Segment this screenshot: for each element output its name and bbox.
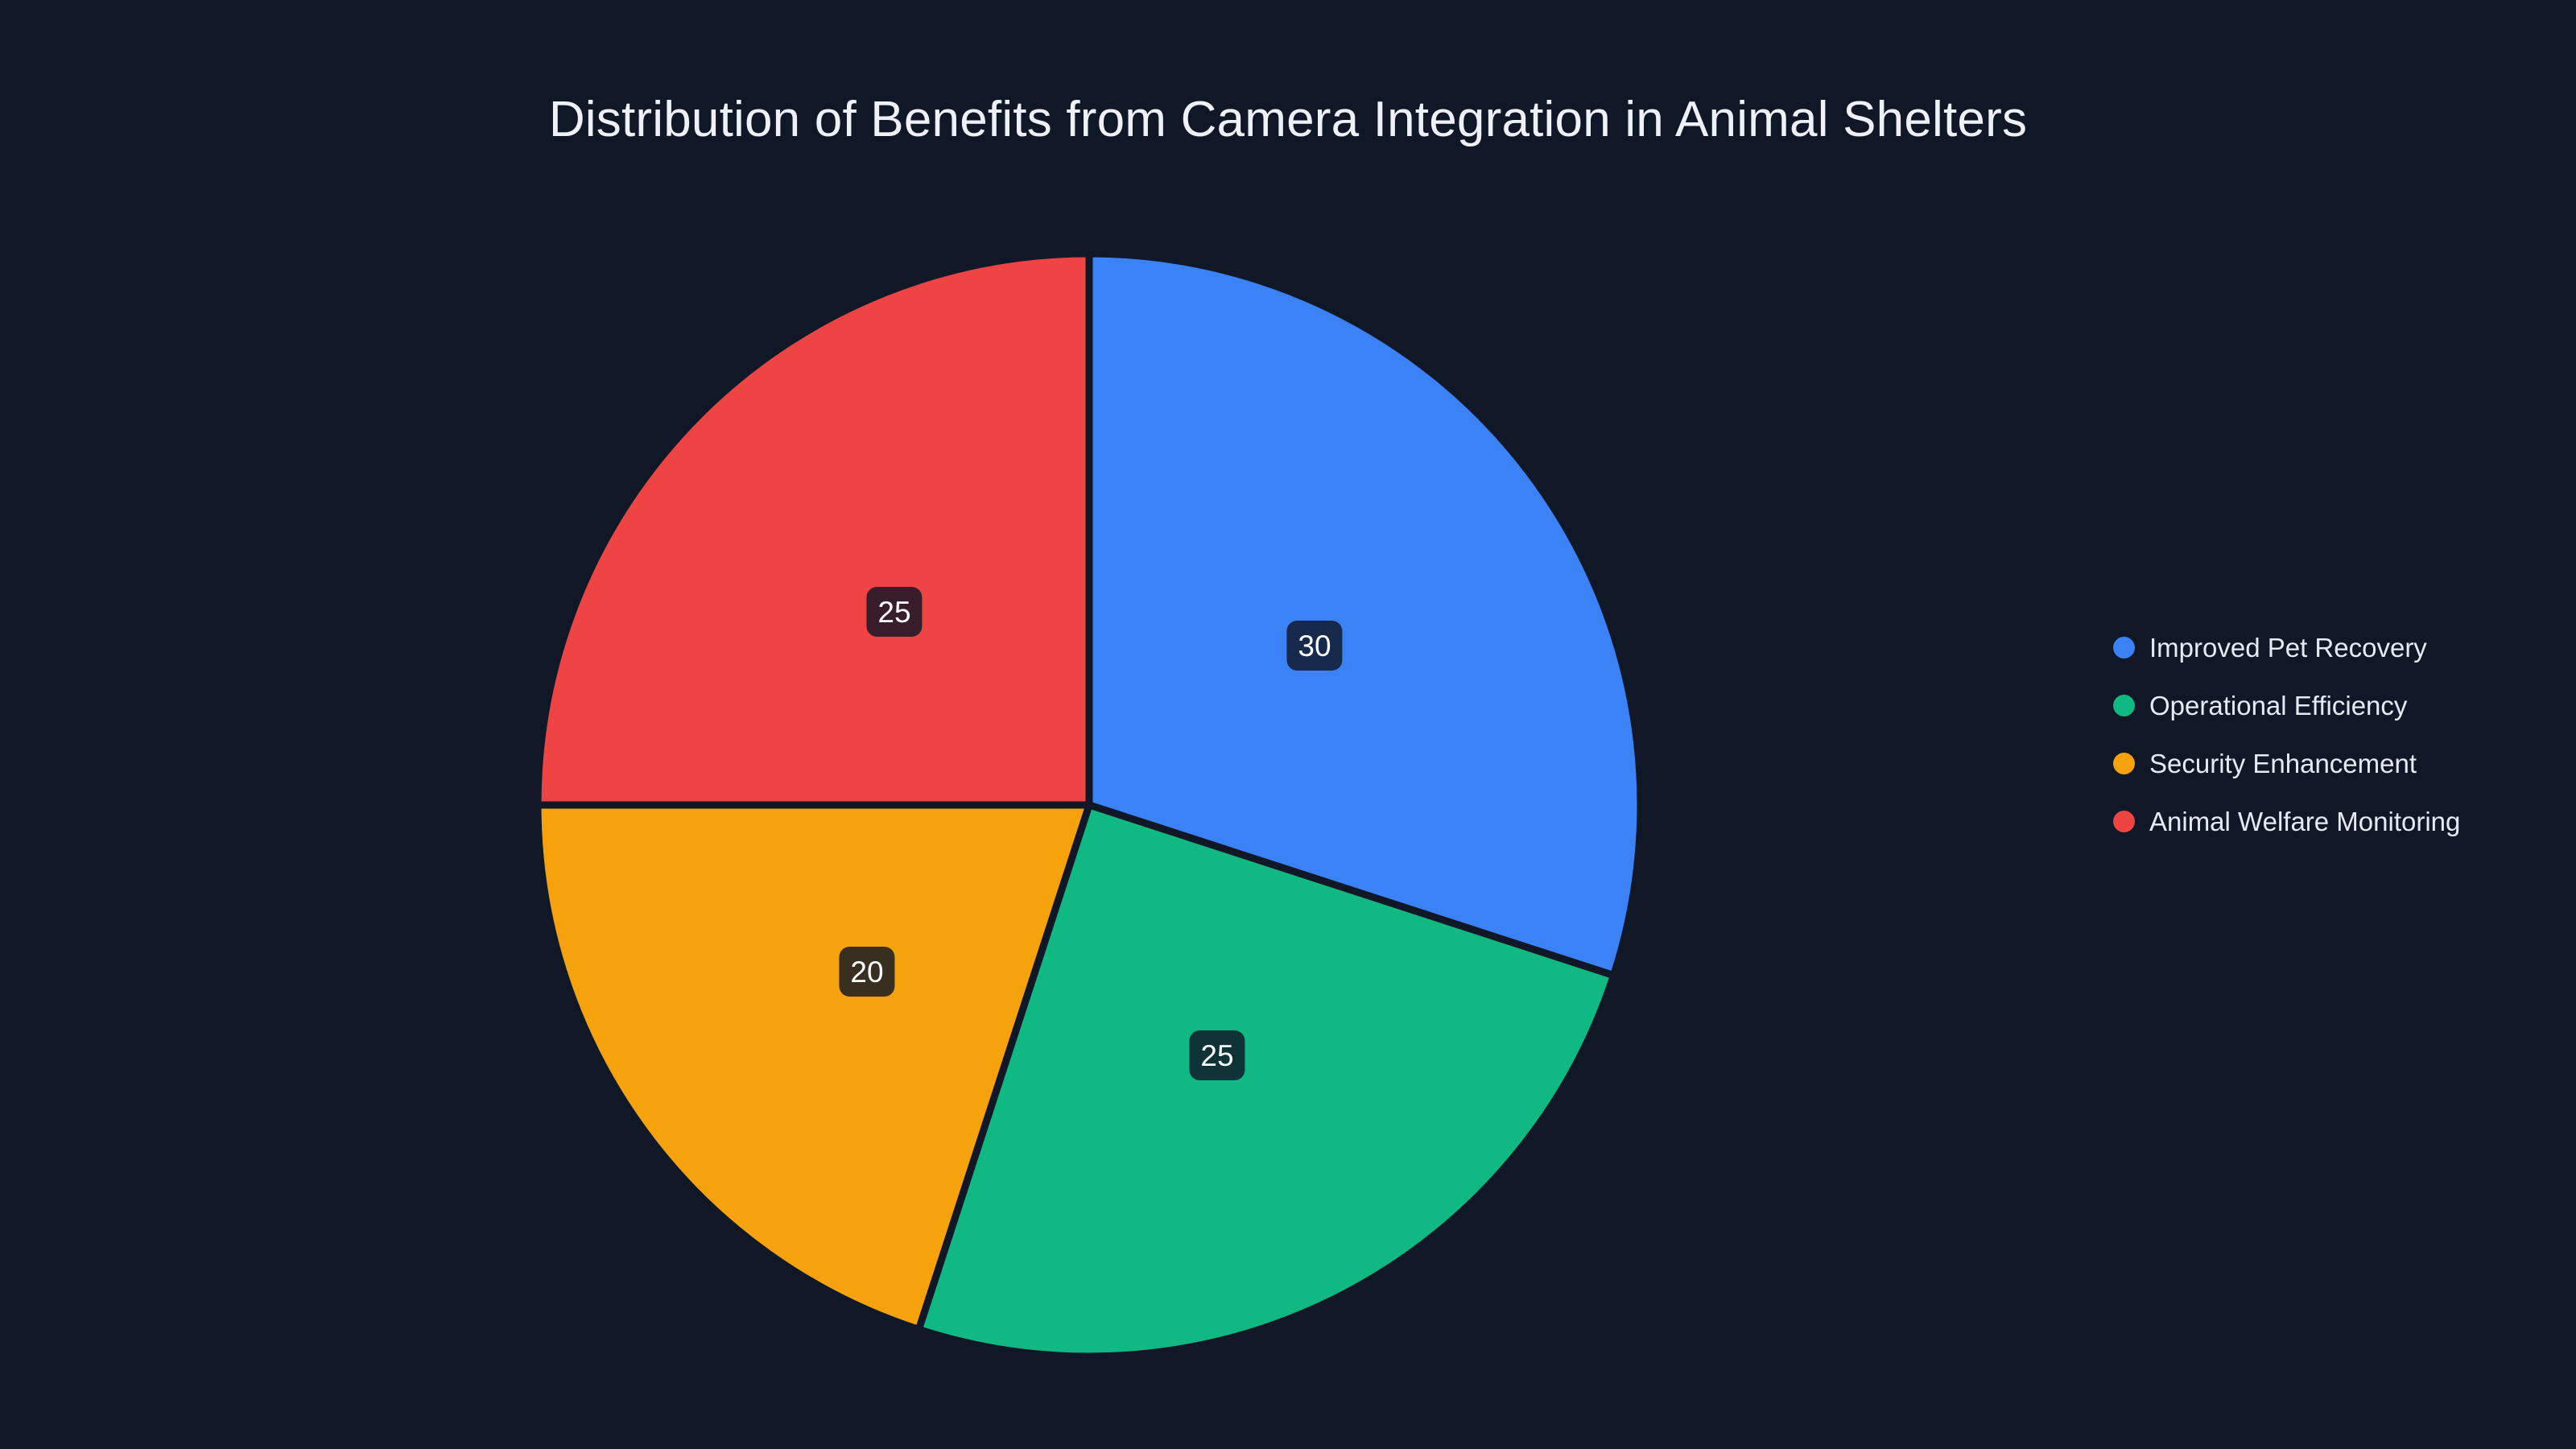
legend-item[interactable]: Operational Efficiency [2113, 676, 2460, 734]
legend-label: Security Enhancement [2149, 750, 2417, 777]
legend-label: Animal Welfare Monitoring [2149, 808, 2460, 835]
legend-swatch-icon [2113, 695, 2135, 716]
legend-swatch-icon [2113, 753, 2135, 774]
legend-item[interactable]: Improved Pet Recovery [2113, 618, 2460, 676]
legend-label: Operational Efficiency [2149, 692, 2407, 719]
pie-chart: Distribution of Benefits from Camera Int… [0, 0, 2576, 1449]
legend: Improved Pet RecoveryOperational Efficie… [2113, 618, 2460, 850]
legend-item[interactable]: Security Enhancement [2113, 734, 2460, 792]
pie-slices [538, 254, 1641, 1356]
legend-swatch-icon [2113, 811, 2135, 832]
slice-value-label: 20 [839, 947, 894, 997]
slice-value-label: 25 [1189, 1030, 1245, 1080]
pie-slice[interactable] [538, 254, 1089, 805]
slice-value-label: 30 [1286, 621, 1342, 671]
legend-label: Improved Pet Recovery [2149, 634, 2427, 661]
slice-value-label: 25 [866, 587, 922, 637]
legend-item[interactable]: Animal Welfare Monitoring [2113, 792, 2460, 850]
legend-swatch-icon [2113, 637, 2135, 658]
